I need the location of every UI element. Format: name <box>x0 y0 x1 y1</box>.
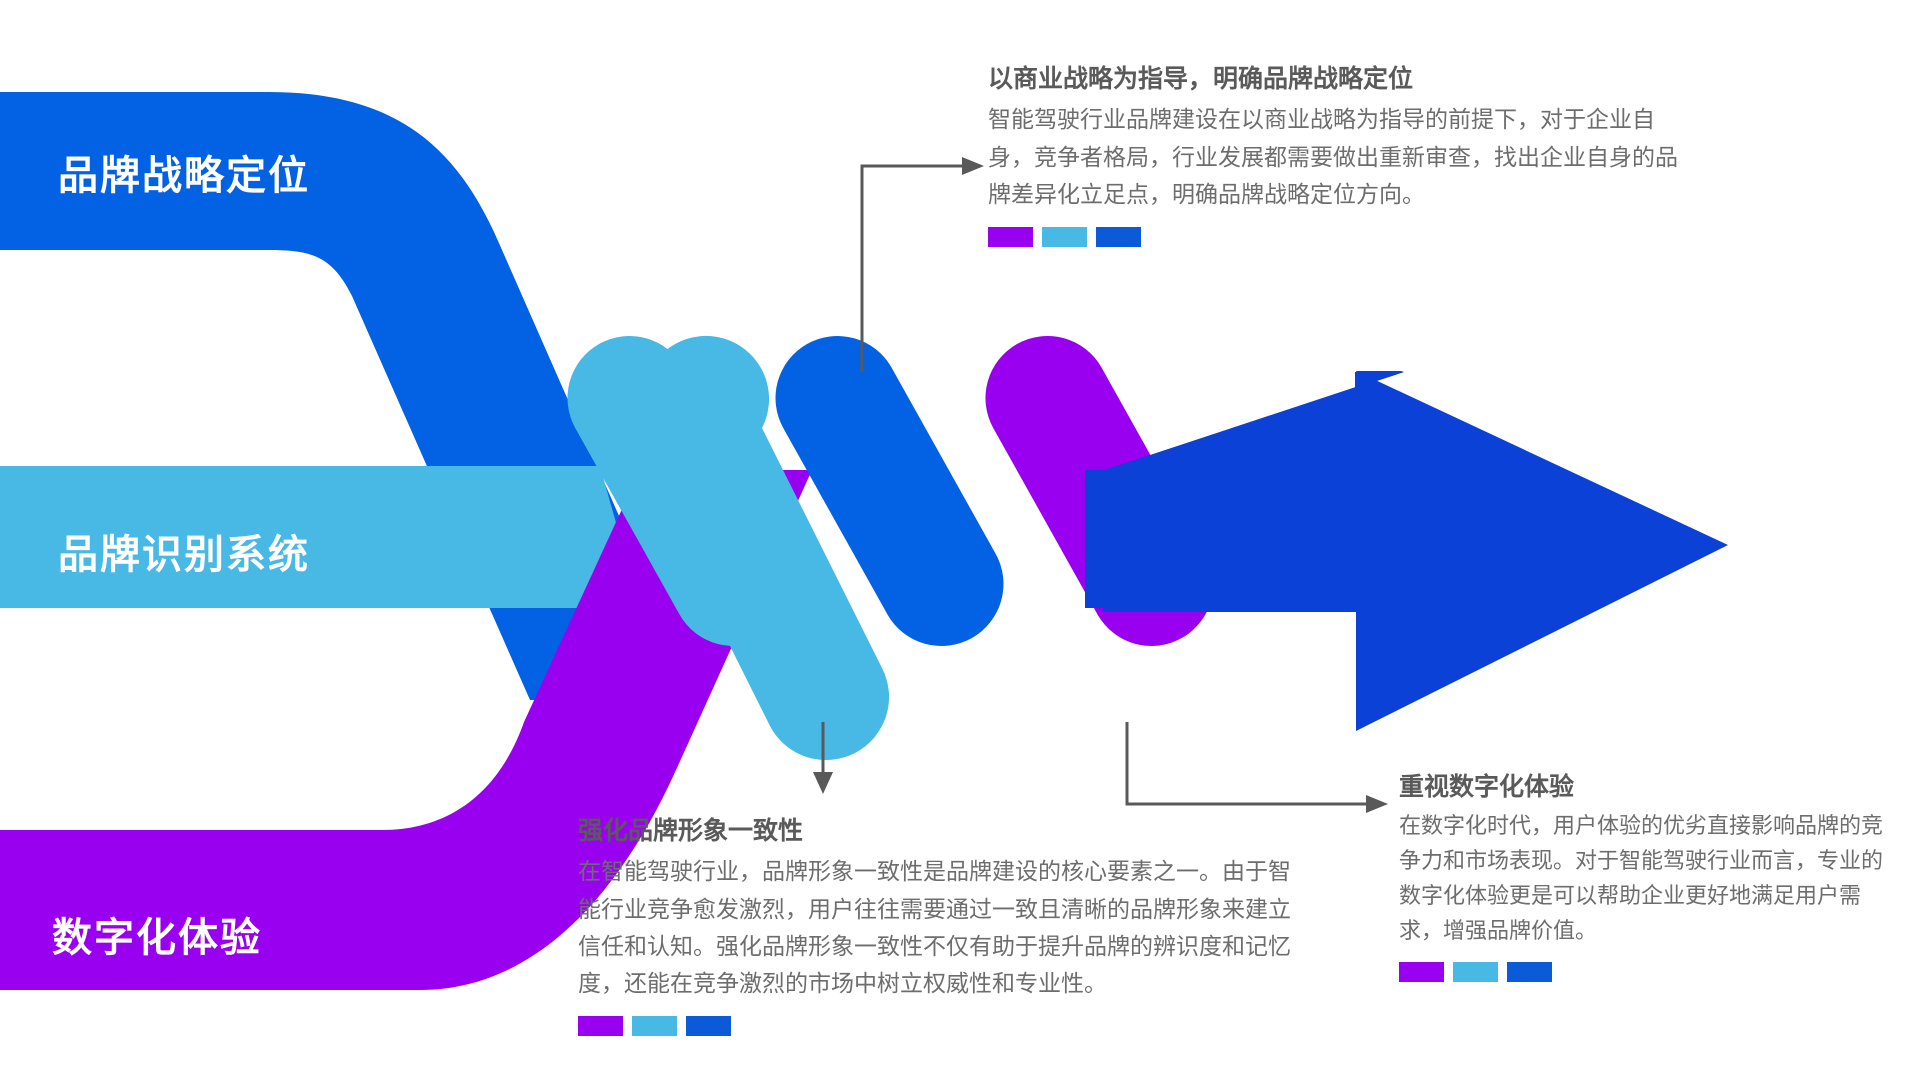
callout-right-body: 在数字化时代，用户体验的优劣直接影响品牌的竞争力和市场表现。对于智能驾驶行业而言… <box>1399 809 1899 948</box>
callout-bottom-body: 在智能驾驶行业，品牌形象一致性是品牌建设的核心要素之一。由于智能行业竞争愈发激烈… <box>578 853 1308 1002</box>
callout-brand-strategy: 以商业战略为指导，明确品牌战略定位 智能驾驶行业品牌建设在以商业战略为指导的前提… <box>988 64 1678 247</box>
swatch-blue <box>686 1016 731 1036</box>
leader-line-right <box>1127 722 1388 813</box>
arrow-glyph <box>1103 371 1728 731</box>
callout-top-swatches <box>988 227 1678 247</box>
callout-digital-experience: 重视数字化体验 在数字化时代，用户体验的优劣直接影响品牌的竞争力和市场表现。对于… <box>1399 772 1899 982</box>
leader-line-top <box>862 157 984 372</box>
callout-top-title: 以商业战略为指导，明确品牌战略定位 <box>988 64 1678 95</box>
callout-right-title: 重视数字化体验 <box>1399 772 1899 803</box>
swatch-purple <box>1399 962 1444 982</box>
swatch-cyan <box>632 1016 677 1036</box>
callout-bottom-swatches <box>578 1016 1308 1036</box>
swatch-blue <box>1507 962 1552 982</box>
callout-bottom-title: 强化品牌形象一致性 <box>578 816 1308 847</box>
callout-brand-image-consistency: 强化品牌形象一致性 在智能驾驶行业，品牌形象一致性是品牌建设的核心要素之一。由于… <box>578 816 1308 1036</box>
infographic-canvas: 品牌战略定位 品牌识别系统 数字化体验 以商业战略为指导，明确品牌战略定位 智能… <box>0 0 1920 1080</box>
swatch-purple <box>988 227 1033 247</box>
callout-right-swatches <box>1399 962 1899 982</box>
swatch-blue <box>1096 227 1141 247</box>
swatch-cyan <box>1453 962 1498 982</box>
band-cyan-middle <box>0 466 640 608</box>
swatch-cyan <box>1042 227 1087 247</box>
swatch-purple <box>578 1016 623 1036</box>
callout-top-body: 智能驾驶行业品牌建设在以商业战略为指导的前提下，对于企业自身，竞争者格局，行业发… <box>988 101 1678 213</box>
